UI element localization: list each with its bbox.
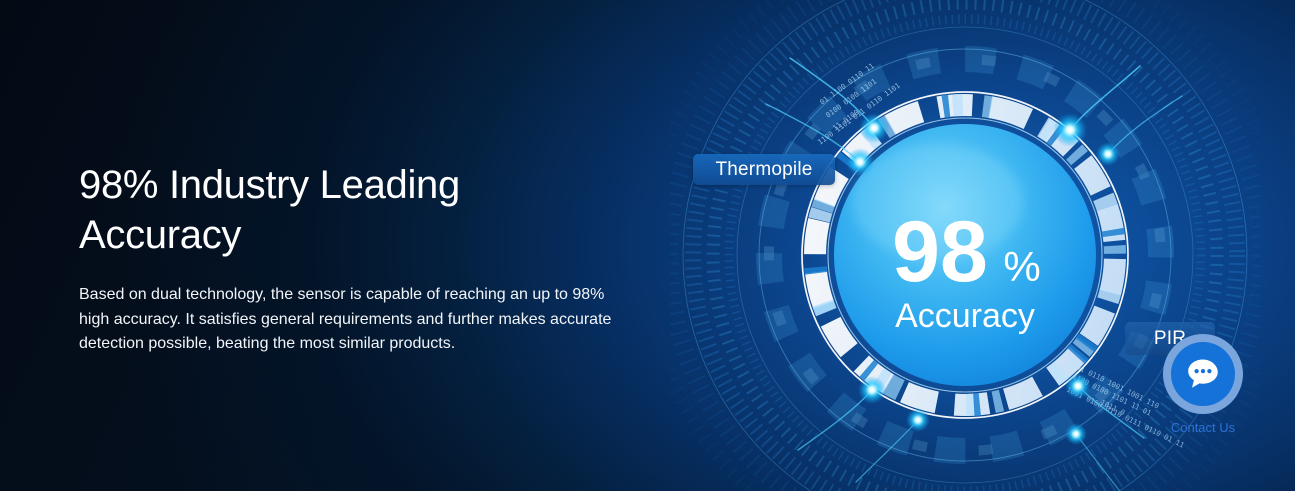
svg-text:98: 98 (892, 204, 988, 300)
svg-text:%: % (1003, 243, 1040, 290)
hero-copy: 98% Industry Leading Accuracy Based on d… (79, 160, 639, 357)
svg-text:Accuracy: Accuracy (895, 297, 1035, 335)
contact-us-label[interactable]: Contact Us (1163, 420, 1243, 435)
chat-bubble-icon (1183, 354, 1223, 394)
hero-description: Based on dual technology, the sensor is … (79, 283, 614, 357)
chat-button[interactable] (1163, 334, 1243, 414)
hero-section: 01 1100 0110 11 0100 0100 1101 11 0100 1… (0, 0, 1295, 491)
page-title: 98% Industry Leading Accuracy (79, 160, 639, 260)
badge-thermopile-label: Thermopile (715, 159, 812, 181)
contact-us-widget[interactable]: Contact Us (1163, 334, 1243, 435)
badge-thermopile[interactable]: Thermopile (693, 154, 835, 185)
